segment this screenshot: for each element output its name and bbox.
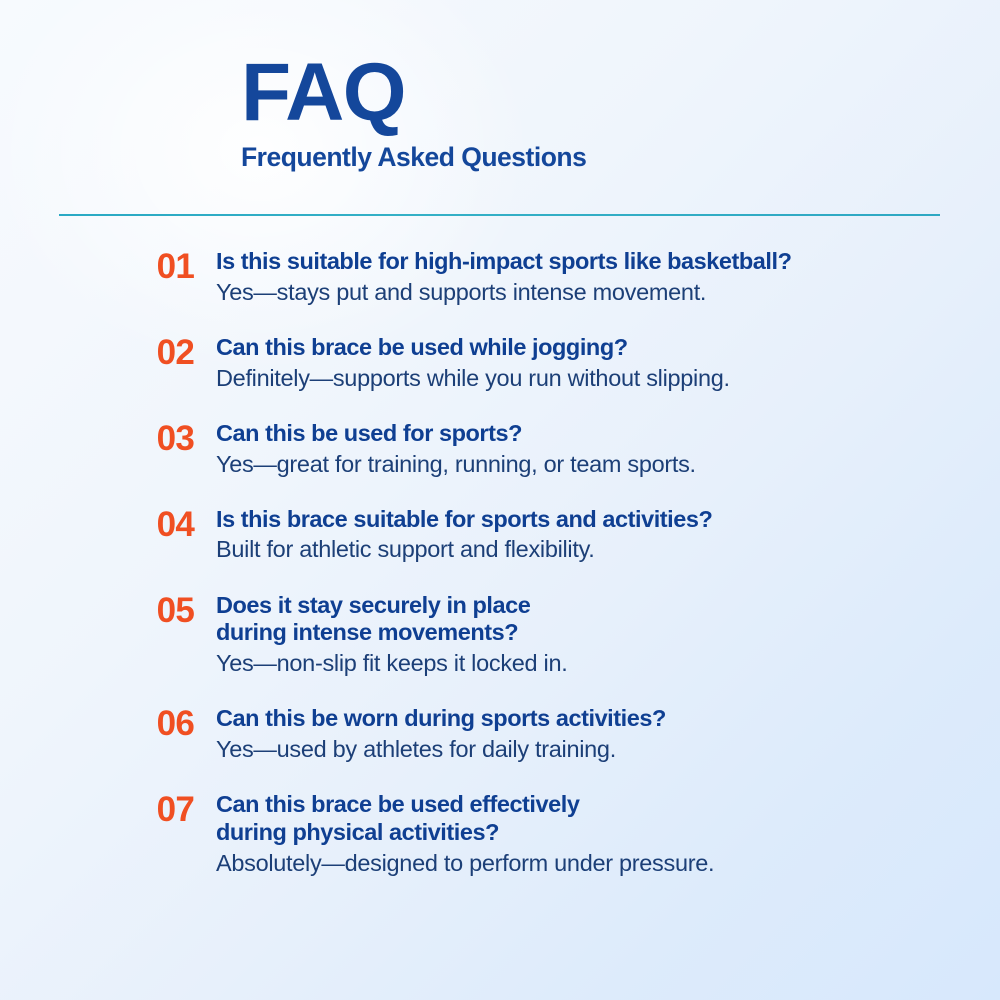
faq-item[interactable]: 06Can this be worn during sports activit… [0, 705, 1000, 763]
faq-item-body: Is this brace suitable for sports and ac… [216, 506, 1000, 564]
faq-item-answer: Yes—non-slip fit keeps it locked in. [216, 649, 952, 677]
faq-item-answer: Yes—used by athletes for daily training. [216, 735, 952, 763]
faq-item-question: Is this brace suitable for sports and ac… [216, 506, 952, 534]
faq-item-body: Can this be worn during sports activitie… [216, 705, 1000, 763]
faq-item-question: Can this brace be used effectivelyduring… [216, 791, 952, 846]
faq-item-answer: Definitely—supports while you run withou… [216, 364, 952, 392]
faq-item-answer: Yes—great for training, running, or team… [216, 450, 952, 478]
faq-item-answer: Yes—stays put and supports intense movem… [216, 278, 952, 306]
faq-item-question: Can this be worn during sports activitie… [216, 705, 952, 733]
faq-item[interactable]: 03Can this be used for sports?Yes—great … [0, 420, 1000, 478]
faq-list: 01Is this suitable for high-impact sport… [0, 248, 1000, 905]
faq-item-question: Can this brace be used while jogging? [216, 334, 952, 362]
faq-item-number: 07 [0, 792, 216, 827]
faq-question-line: Can this brace be used effectively [216, 791, 952, 819]
faq-header: FAQ Frequently Asked Questions [241, 54, 586, 172]
faq-question-line: Is this brace suitable for sports and ac… [216, 506, 952, 534]
faq-question-line: Does it stay securely in place [216, 592, 952, 620]
faq-item-number: 02 [0, 335, 216, 370]
faq-item-number: 06 [0, 706, 216, 741]
faq-item-number: 05 [0, 593, 216, 628]
faq-question-line: Can this be used for sports? [216, 420, 952, 448]
faq-question-line: Can this be worn during sports activitie… [216, 705, 952, 733]
faq-question-line: Is this suitable for high-impact sports … [216, 248, 952, 276]
faq-item[interactable]: 02Can this brace be used while jogging?D… [0, 334, 1000, 392]
faq-item-body: Is this suitable for high-impact sports … [216, 248, 1000, 306]
faq-item-body: Does it stay securely in placeduring int… [216, 592, 1000, 678]
faq-item-question: Does it stay securely in placeduring int… [216, 592, 952, 647]
faq-item-body: Can this brace be used while jogging?Def… [216, 334, 1000, 392]
faq-item-number: 01 [0, 249, 216, 284]
faq-item-number: 04 [0, 507, 216, 542]
faq-item[interactable]: 01Is this suitable for high-impact sport… [0, 248, 1000, 306]
faq-page: FAQ Frequently Asked Questions 01Is this… [0, 0, 1000, 1000]
faq-item-number: 03 [0, 421, 216, 456]
faq-item[interactable]: 04Is this brace suitable for sports and … [0, 506, 1000, 564]
faq-item-question: Is this suitable for high-impact sports … [216, 248, 952, 276]
faq-question-line: Can this brace be used while jogging? [216, 334, 952, 362]
header-divider [59, 214, 940, 216]
page-title: FAQ [241, 54, 586, 131]
faq-item[interactable]: 05Does it stay securely in placeduring i… [0, 592, 1000, 678]
faq-item-answer: Built for athletic support and flexibili… [216, 535, 952, 563]
faq-question-line: during intense movements? [216, 619, 952, 647]
faq-item-body: Can this brace be used effectivelyduring… [216, 791, 1000, 877]
page-subtitle: Frequently Asked Questions [241, 143, 586, 172]
faq-item[interactable]: 07Can this brace be used effectivelyduri… [0, 791, 1000, 877]
faq-item-answer: Absolutely—designed to perform under pre… [216, 849, 952, 877]
faq-item-body: Can this be used for sports?Yes—great fo… [216, 420, 1000, 478]
faq-question-line: during physical activities? [216, 819, 952, 847]
faq-item-question: Can this be used for sports? [216, 420, 952, 448]
